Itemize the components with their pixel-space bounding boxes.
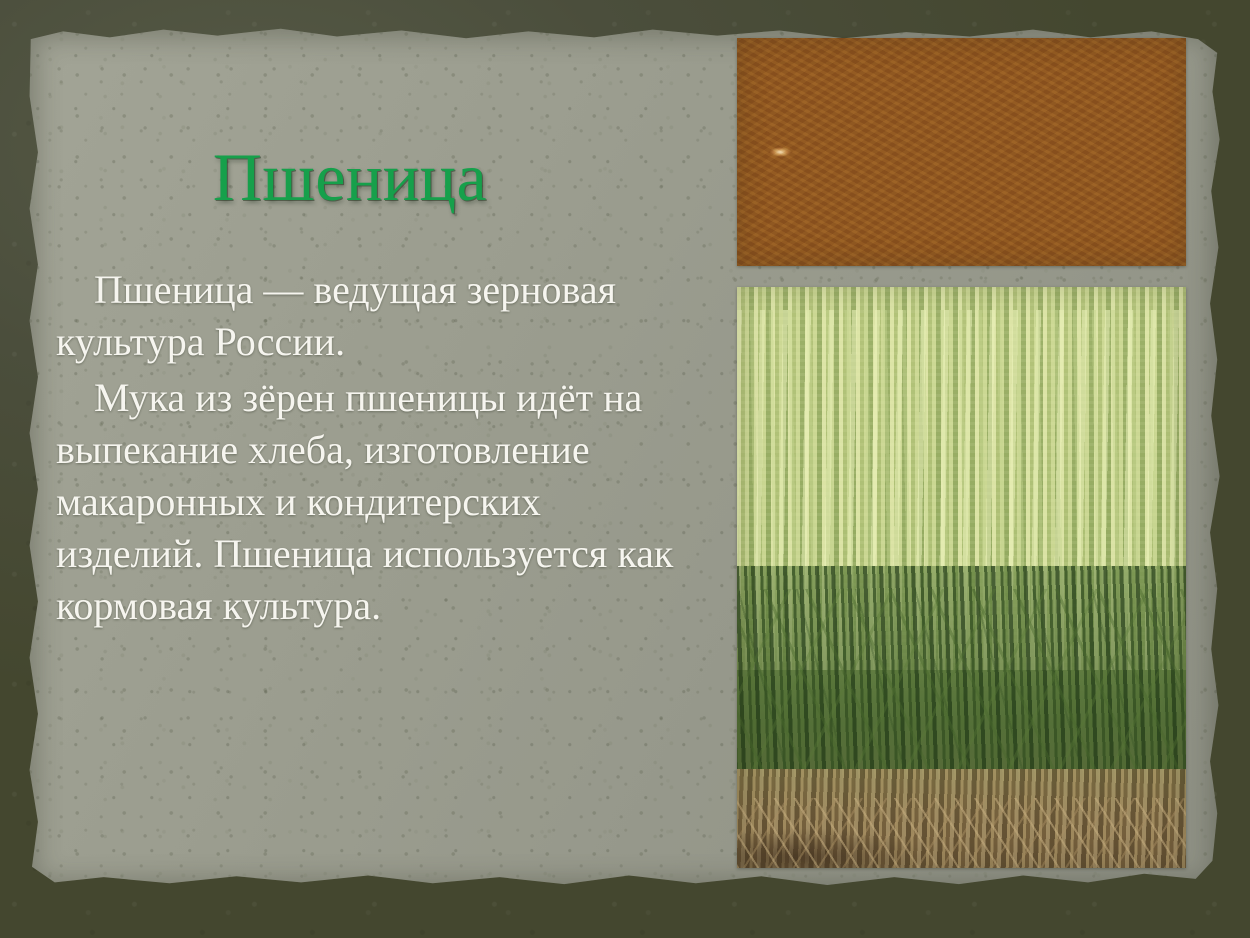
page-title: Пшеница (0, 142, 700, 213)
wheat-grains-photo (737, 38, 1186, 266)
body-paragraph-1: Пшеница — ведущая зерновая культура Росс… (56, 264, 676, 368)
grain-texture-overlay (737, 38, 1186, 266)
field-ground-detail-layer (737, 798, 1186, 868)
body-text-block: Пшеница — ведущая зерновая культура Росс… (56, 264, 676, 636)
slide: Пшеница Пшеница — ведущая зерновая культ… (0, 0, 1250, 938)
wheat-field-photo (737, 287, 1186, 868)
body-paragraph-2: Мука из зёрен пшеницы идёт на выпекание … (56, 372, 676, 632)
